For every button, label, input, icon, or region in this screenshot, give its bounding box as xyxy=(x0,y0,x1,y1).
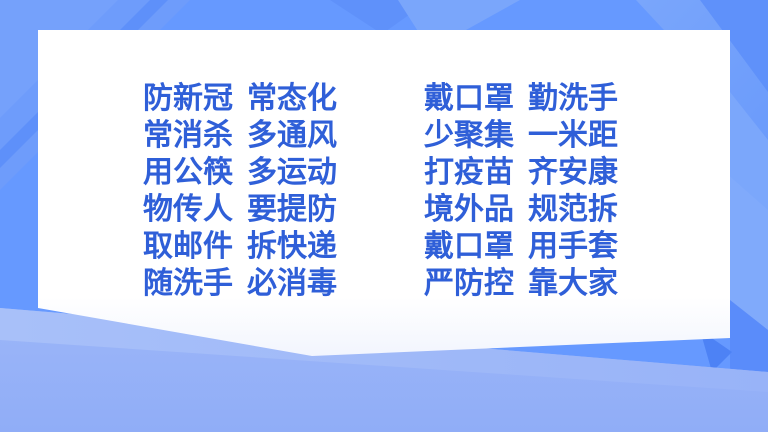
slogan-first: 防新冠 xyxy=(143,81,233,116)
slogan-row: 戴口罩用手套 xyxy=(424,228,618,265)
slogan-second: 勤洗手 xyxy=(528,81,618,116)
slogan-row: 打疫苗齐安康 xyxy=(424,154,618,191)
slogan-first: 取邮件 xyxy=(143,229,233,264)
slogan-row: 境外品规范拆 xyxy=(424,191,618,228)
slogan-text-area: 防新冠常态化 常消杀多通风 用公筷多运动 物传人要提防 取邮件拆快递 随洗手必消… xyxy=(0,0,768,432)
slogan-first: 境外品 xyxy=(424,192,514,227)
slogan-second: 靠大家 xyxy=(528,266,618,301)
slogan-first: 随洗手 xyxy=(143,266,233,301)
slogan-second: 规范拆 xyxy=(528,192,618,227)
slogan-row: 取邮件拆快递 xyxy=(143,228,337,265)
slogan-row: 少聚集一米距 xyxy=(424,117,618,154)
slogan-second: 常态化 xyxy=(247,81,337,116)
slogan-row: 戴口罩勤洗手 xyxy=(424,80,618,117)
slogan-second: 用手套 xyxy=(528,229,618,264)
slogan-second: 多运动 xyxy=(247,155,337,190)
slogan-row: 严防控靠大家 xyxy=(424,265,618,302)
slogan-first: 常消杀 xyxy=(143,118,233,153)
slogan-second: 必消毒 xyxy=(247,266,337,301)
slogan-row: 物传人要提防 xyxy=(143,191,337,228)
slogan-column-left: 防新冠常态化 常消杀多通风 用公筷多运动 物传人要提防 取邮件拆快递 随洗手必消… xyxy=(143,80,337,302)
slogan-second: 齐安康 xyxy=(528,155,618,190)
poster-root: 防新冠常态化 常消杀多通风 用公筷多运动 物传人要提防 取邮件拆快递 随洗手必消… xyxy=(0,0,768,432)
slogan-first: 用公筷 xyxy=(143,155,233,190)
slogan-first: 戴口罩 xyxy=(424,229,514,264)
slogan-row: 防新冠常态化 xyxy=(143,80,337,117)
slogan-first: 戴口罩 xyxy=(424,81,514,116)
slogan-row: 随洗手必消毒 xyxy=(143,265,337,302)
slogan-second: 一米距 xyxy=(528,118,618,153)
slogan-first: 少聚集 xyxy=(424,118,514,153)
slogan-column-right: 戴口罩勤洗手 少聚集一米距 打疫苗齐安康 境外品规范拆 戴口罩用手套 严防控靠大… xyxy=(424,80,618,302)
slogan-row: 常消杀多通风 xyxy=(143,117,337,154)
slogan-first: 打疫苗 xyxy=(424,155,514,190)
slogan-second: 多通风 xyxy=(247,118,337,153)
slogan-first: 严防控 xyxy=(424,266,514,301)
slogan-row: 用公筷多运动 xyxy=(143,154,337,191)
slogan-first: 物传人 xyxy=(143,192,233,227)
slogan-second: 拆快递 xyxy=(247,229,337,264)
slogan-second: 要提防 xyxy=(247,192,337,227)
